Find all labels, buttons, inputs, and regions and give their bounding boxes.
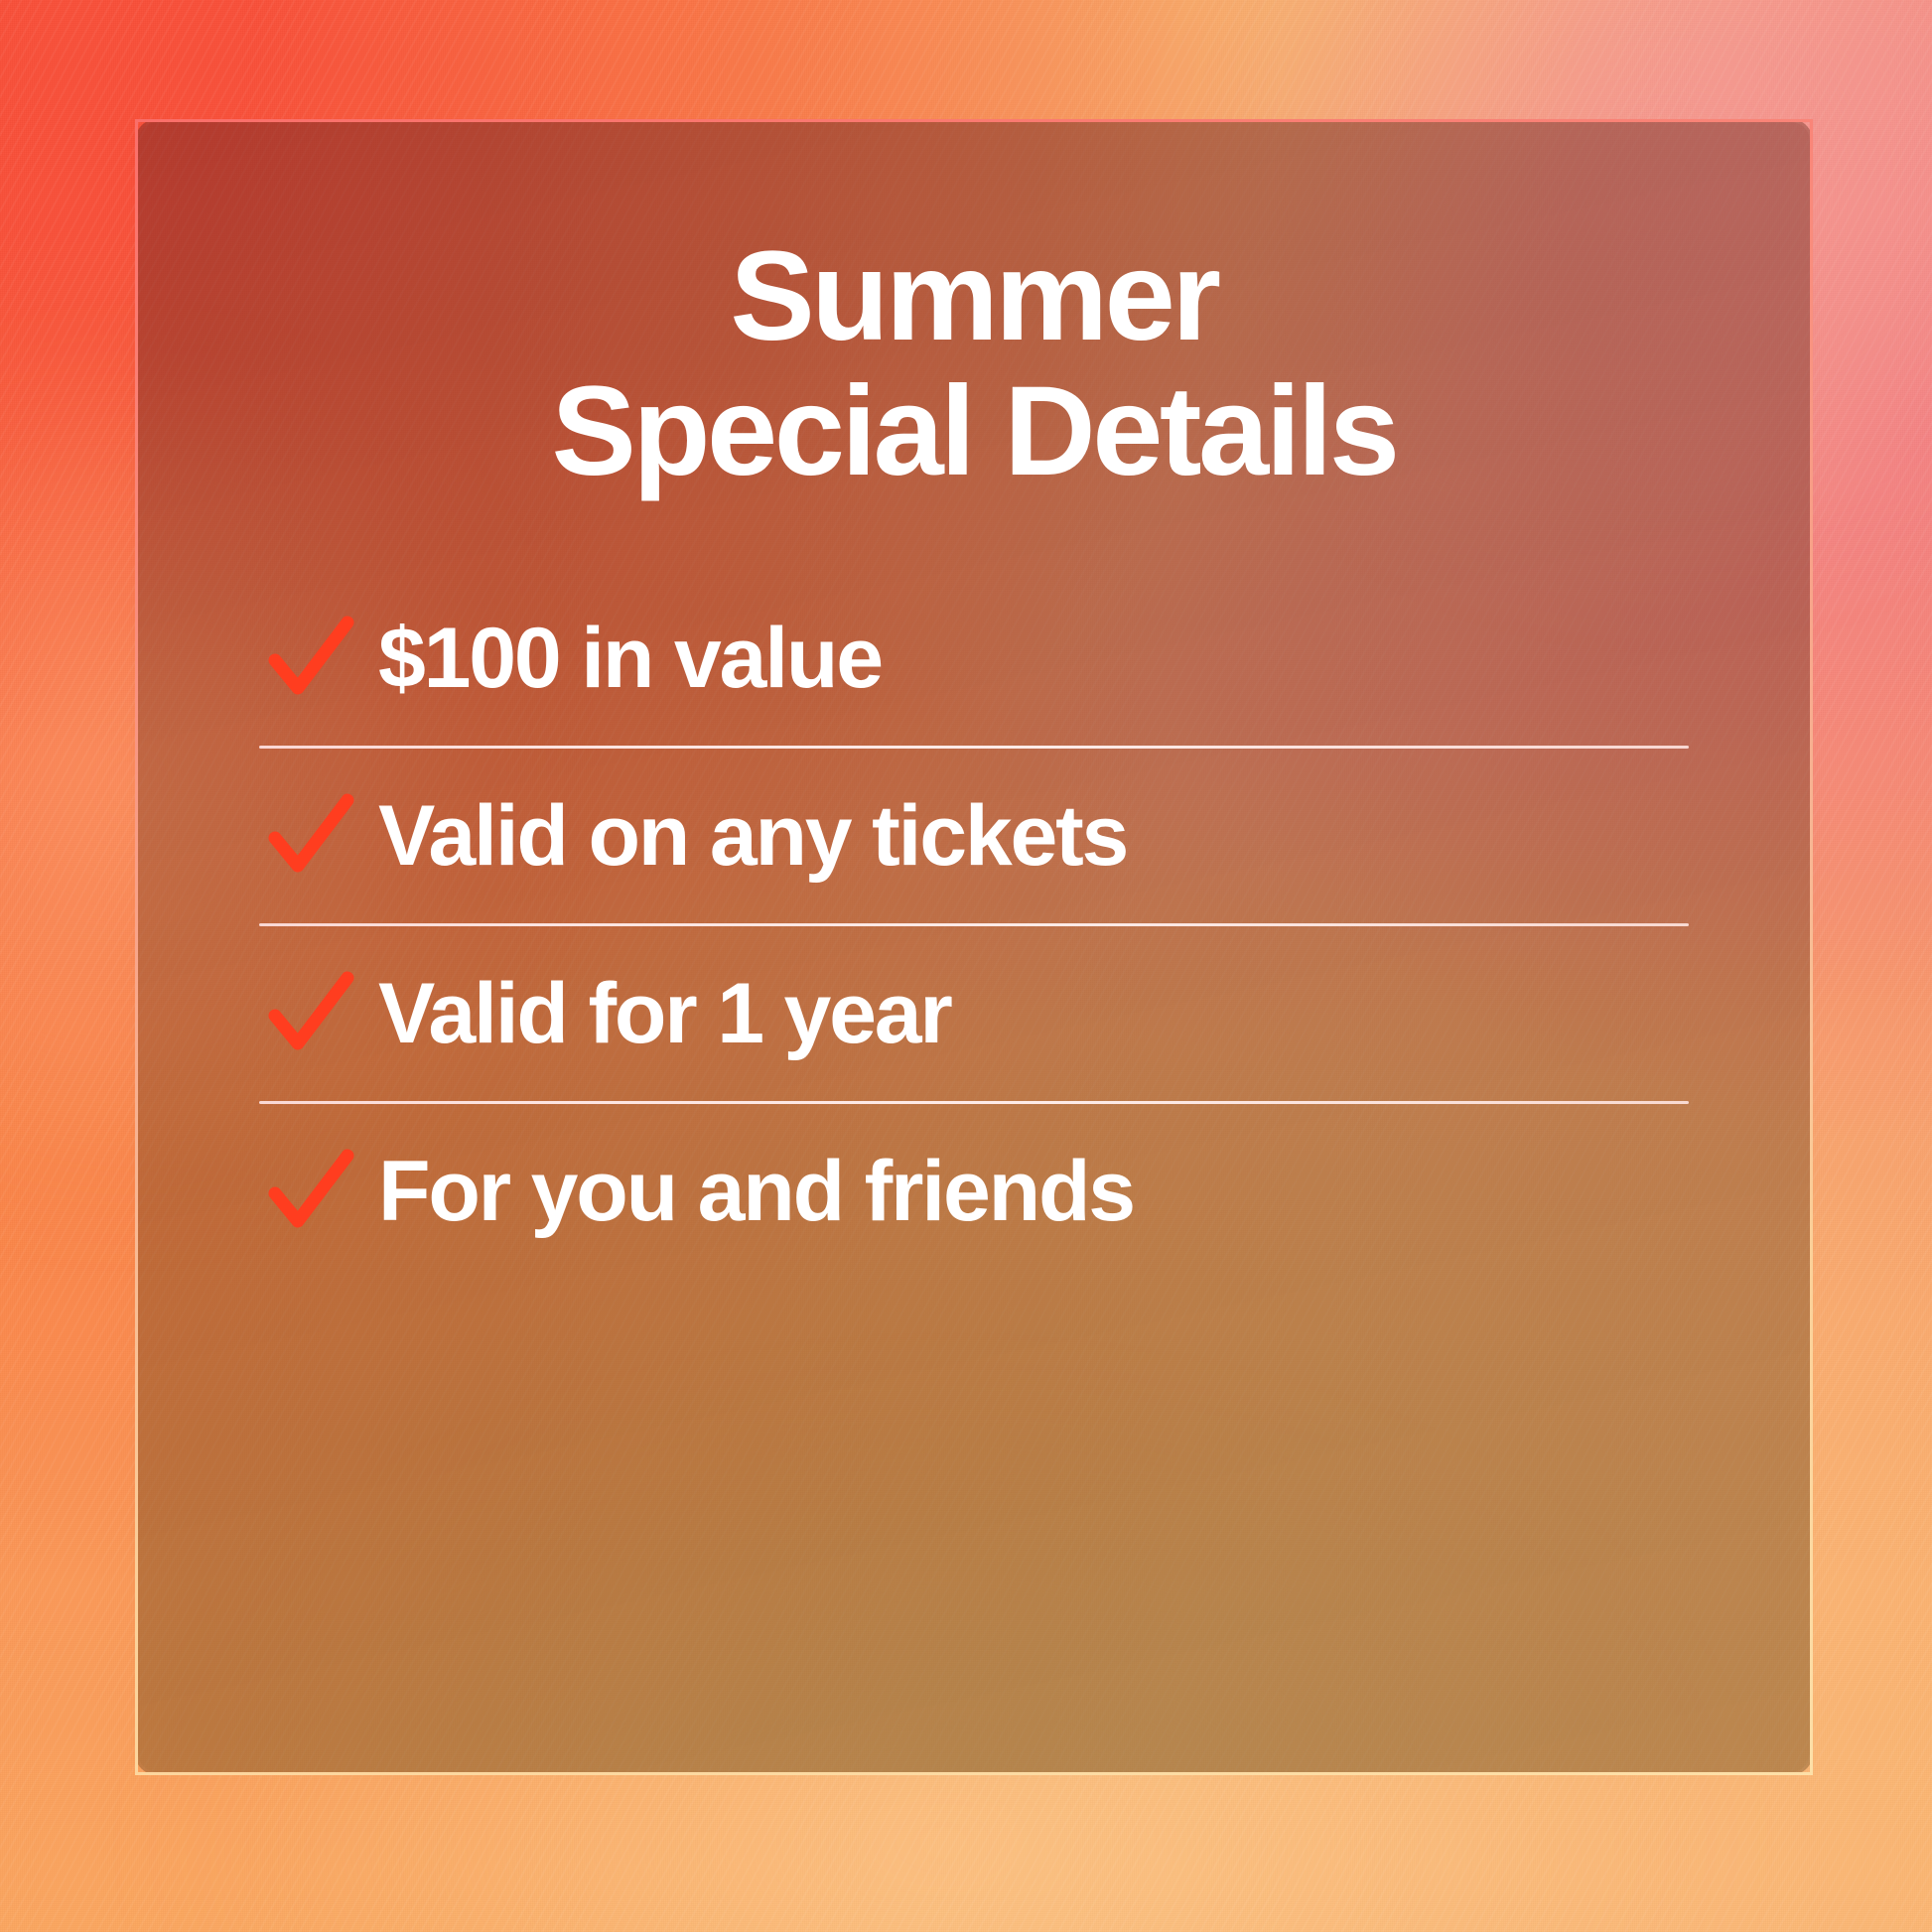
title-line-2: Special Details	[138, 364, 1810, 499]
benefits-list: $100 in value Valid on any tickets	[259, 571, 1689, 1279]
list-item: $100 in value	[259, 571, 1689, 746]
list-item: For you and friends	[259, 1104, 1689, 1279]
list-item-label: For you and friends	[378, 1149, 1134, 1234]
list-item-label: Valid on any tickets	[378, 793, 1127, 879]
list-item: Valid on any tickets	[259, 749, 1689, 923]
list-item: Valid for 1 year	[259, 926, 1689, 1101]
list-item-label: Valid for 1 year	[378, 971, 951, 1056]
checkmark-icon	[259, 784, 362, 888]
checkmark-icon	[259, 962, 362, 1065]
list-item-label: $100 in value	[378, 616, 882, 701]
promo-graphic: Summer Special Details $100 in value	[0, 0, 1932, 1932]
checkmark-icon	[259, 1140, 362, 1243]
details-card: Summer Special Details $100 in value	[135, 119, 1813, 1775]
page-title: Summer Special Details	[138, 229, 1810, 498]
checkmark-icon	[259, 607, 362, 710]
title-line-1: Summer	[138, 229, 1810, 364]
